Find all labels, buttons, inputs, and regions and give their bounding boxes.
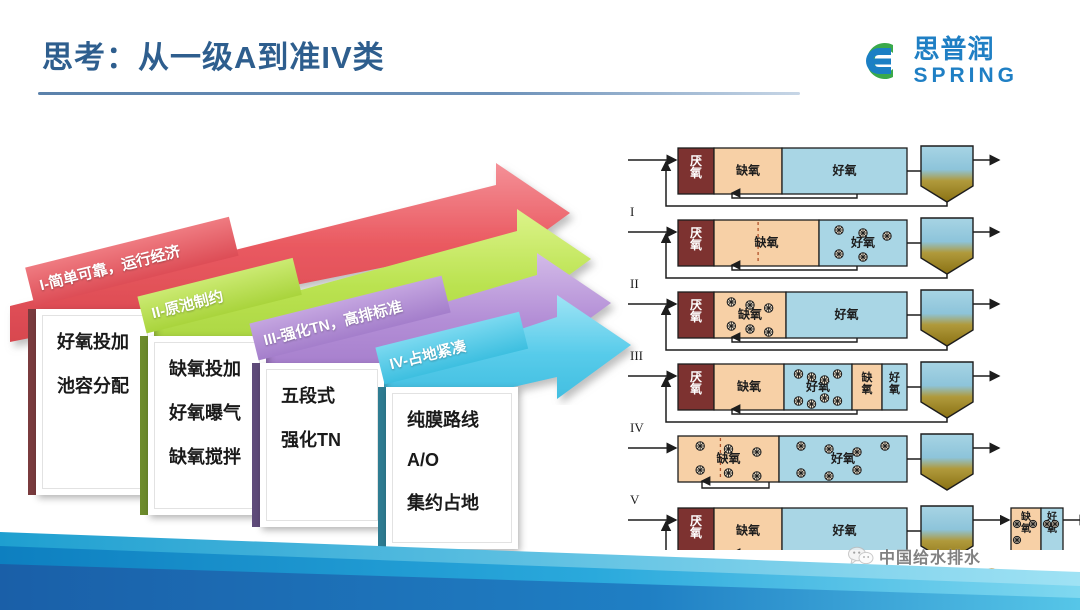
page-title: 思考：从一级A到准IV类 bbox=[42, 32, 385, 77]
mbbr-carrier-icon bbox=[807, 373, 815, 381]
card-item: 缺氧搅拌 bbox=[169, 443, 259, 469]
mbbr-carrier-icon bbox=[1013, 520, 1020, 527]
card-item: 好氧曝气 bbox=[169, 399, 259, 425]
flow-zone-label: 好氧 bbox=[831, 163, 856, 178]
flow-row-label: V bbox=[630, 492, 640, 507]
card-banner-text-1: I-简单可靠，运行经济 bbox=[37, 240, 182, 295]
settling-tank-icon[interactable] bbox=[921, 146, 973, 202]
card-banner-text-4: IV-占地紧凑 bbox=[387, 334, 468, 373]
flow-zone-label: 好氧 bbox=[830, 451, 855, 466]
process-flow-diagrams: 厌氧缺氧好氧I厌氧缺氧好氧II厌氧缺氧好氧III厌氧缺氧好氧缺氧好氧IV缺氧好氧… bbox=[628, 130, 1080, 550]
flow-zone-label: 厌氧 bbox=[689, 298, 702, 324]
card-item: 集约占地 bbox=[407, 489, 511, 515]
strategy-card-list: I-简单可靠，运行经济 好氧投加 池容分配 II-原池制约 缺氧投加 bbox=[0, 155, 640, 555]
card-item: 好氧投加 bbox=[57, 328, 147, 354]
mbbr-carrier-icon bbox=[820, 376, 828, 384]
card-item: 纯膜路线 bbox=[407, 406, 511, 432]
mbbr-carrier-icon bbox=[835, 250, 843, 258]
flow-row[interactable]: I厌氧缺氧好氧 bbox=[628, 204, 999, 278]
mbbr-carrier-icon bbox=[881, 442, 889, 450]
flow-row[interactable]: IV缺氧好氧 bbox=[628, 420, 999, 490]
card-body-3: 五段式 强化TN bbox=[260, 363, 384, 527]
flow-zone-label: 缺氧 bbox=[861, 370, 874, 396]
strategy-card-3[interactable]: III-强化TN，高排标准 五段式 强化TN bbox=[252, 327, 380, 527]
flow-row[interactable]: III厌氧缺氧好氧缺氧好氧 bbox=[628, 348, 999, 422]
mbbr-carrier-icon bbox=[825, 472, 833, 480]
strategy-card-1[interactable]: I-简单可靠，运行经济 好氧投加 池容分配 bbox=[28, 273, 150, 495]
mbbr-carrier-icon bbox=[724, 445, 732, 453]
mbbr-carrier-icon bbox=[753, 472, 761, 480]
mbbr-carrier-icon bbox=[825, 445, 833, 453]
mbbr-carrier-icon bbox=[1051, 520, 1058, 527]
flow-zone-label: 好氧 bbox=[888, 370, 900, 396]
slide-root: 思考：从一级A到准IV类 思普润 SPRING bbox=[0, 0, 1080, 610]
flow-zone-label: 好氧 bbox=[831, 523, 856, 538]
card-body-1: 好氧投加 池容分配 bbox=[36, 309, 154, 495]
mbbr-carrier-icon bbox=[820, 394, 828, 402]
watermark-letter: e bbox=[923, 566, 936, 591]
mbbr-carrier-icon bbox=[1029, 520, 1036, 527]
watermark-brand-number: 8848 bbox=[944, 566, 996, 591]
brand-logo: 思普润 SPRING bbox=[854, 36, 1018, 86]
watermark-letter: a bbox=[902, 566, 915, 591]
flow-svg-canvas: 厌氧缺氧好氧I厌氧缺氧好氧II厌氧缺氧好氧III厌氧缺氧好氧缺氧好氧IV缺氧好氧… bbox=[628, 130, 1080, 550]
strategy-card-2[interactable]: II-原池制约 缺氧投加 好氧曝气 缺氧搅拌 bbox=[140, 300, 262, 515]
logo-chinese-name: 思普润 bbox=[913, 36, 1018, 62]
flow-row-label: II bbox=[630, 276, 639, 291]
flow-zone-label: 好氧 bbox=[833, 307, 858, 322]
card-item: 五段式 bbox=[281, 382, 377, 408]
settling-tank-icon[interactable] bbox=[921, 506, 973, 550]
flow-zone-label: 厌氧 bbox=[689, 226, 702, 252]
logo-english-name: SPRING bbox=[913, 65, 1018, 86]
watermark: 中国给水排水 water8848.com 中 国 水 业 网 bbox=[848, 544, 1080, 606]
strategy-card-4[interactable]: IV-占地紧凑 纯膜路线 A/O 集约占地 bbox=[378, 351, 518, 549]
mbbr-carrier-icon bbox=[727, 322, 735, 330]
mbbr-carrier-icon bbox=[794, 397, 802, 405]
watermark-letter: t bbox=[915, 566, 922, 591]
strategy-arrow-chart: I-简单可靠，运行经济 好氧投加 池容分配 II-原池制约 缺氧投加 bbox=[0, 155, 640, 555]
flow-zone-label: 厌氧 bbox=[689, 514, 702, 540]
flow-zone-label: 厌氧 bbox=[689, 370, 702, 396]
card-item: 强化TN bbox=[281, 426, 377, 452]
settling-tank-icon[interactable] bbox=[921, 218, 973, 274]
mbbr-carrier-icon bbox=[807, 400, 815, 408]
title-divider bbox=[38, 92, 800, 95]
flow-row-label: I bbox=[630, 204, 634, 219]
mbbr-carrier-icon bbox=[1043, 520, 1050, 527]
settling-tank-icon[interactable] bbox=[921, 434, 973, 490]
mbbr-carrier-icon bbox=[797, 469, 805, 477]
mbbr-carrier-icon bbox=[853, 466, 861, 474]
card-banner-text-3: III-强化TN，高排标准 bbox=[261, 295, 404, 350]
flow-row-label: III bbox=[630, 348, 643, 363]
mbbr-carrier-icon bbox=[833, 397, 841, 405]
mbbr-carrier-icon bbox=[753, 448, 761, 456]
card-item: 缺氧投加 bbox=[169, 355, 259, 381]
watermark-cn-bottom: 中 国 水 业 网 bbox=[902, 592, 1044, 610]
mbbr-carrier-icon bbox=[859, 253, 867, 261]
mbbr-carrier-icon bbox=[727, 298, 735, 306]
watermark-brand-letters: water bbox=[884, 566, 944, 591]
mbbr-carrier-icon bbox=[883, 232, 891, 240]
mbbr-carrier-icon bbox=[1013, 536, 1020, 543]
mbbr-carrier-icon bbox=[764, 304, 772, 312]
card-body-2: 缺氧投加 好氧曝气 缺氧搅拌 bbox=[148, 336, 266, 515]
watermark-brand: water8848.com bbox=[884, 566, 1011, 591]
flow-zone-label: 缺氧 bbox=[737, 379, 761, 394]
card-body-4: 纯膜路线 A/O 集约占地 bbox=[386, 387, 518, 549]
mbbr-carrier-icon bbox=[696, 442, 704, 450]
flow-zone-label: 缺氧 bbox=[736, 163, 760, 178]
watermark-brand-tld: .com bbox=[996, 570, 1012, 579]
flow-zone-label: 厌氧 bbox=[689, 154, 702, 180]
mbbr-carrier-icon bbox=[746, 325, 754, 333]
mbbr-carrier-icon bbox=[724, 469, 732, 477]
mbbr-carrier-icon bbox=[794, 370, 802, 378]
mbbr-carrier-icon bbox=[853, 448, 861, 456]
flow-row[interactable]: 厌氧缺氧好氧 bbox=[628, 146, 999, 206]
mbbr-carrier-icon bbox=[797, 442, 805, 450]
mbbr-carrier-icon bbox=[746, 301, 754, 309]
settling-tank-icon[interactable] bbox=[921, 362, 973, 418]
flow-row[interactable]: V厌氧缺氧好氧缺氧好氧 bbox=[628, 492, 1080, 550]
flow-zone-label: 缺氧 bbox=[754, 235, 778, 250]
settling-tank-icon[interactable] bbox=[921, 290, 973, 346]
spring-e-logo-icon bbox=[854, 36, 904, 86]
card-banner-text-2: II-原池制约 bbox=[149, 285, 225, 323]
mbbr-carrier-icon bbox=[833, 370, 841, 378]
flow-zone-label: 缺氧 bbox=[736, 523, 760, 538]
mbbr-carrier-icon bbox=[835, 226, 843, 234]
mbbr-carrier-icon bbox=[764, 328, 772, 336]
watermark-letter: w bbox=[884, 566, 902, 591]
flow-row[interactable]: II厌氧缺氧好氧 bbox=[628, 276, 999, 350]
card-item: A/O bbox=[407, 450, 511, 471]
mbbr-carrier-icon bbox=[696, 466, 704, 474]
watermark-letter: r bbox=[936, 566, 945, 591]
flow-row-label: IV bbox=[630, 420, 644, 435]
card-item: 池容分配 bbox=[57, 372, 147, 398]
mbbr-carrier-icon bbox=[859, 229, 867, 237]
